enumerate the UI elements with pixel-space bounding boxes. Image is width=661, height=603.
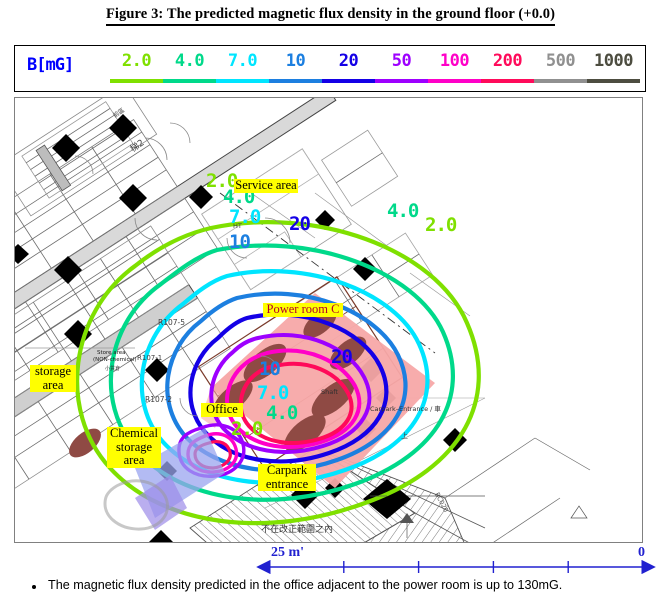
contour-label-4-0-10: 4.0: [266, 402, 297, 424]
legend-entry-swatch: [269, 79, 322, 83]
legend-entry-swatch: [216, 79, 269, 83]
figure-title: Figure 3: The predicted magnetic flux de…: [0, 6, 661, 26]
legend-entry-2-0: 2.0: [110, 46, 163, 93]
cad-annotation-5: (NON-chemical): [93, 357, 137, 363]
room-label-carpark-entrance: Carpark entrance: [258, 464, 316, 491]
floor-plan-canvas: Service area Power room C storage area C…: [15, 98, 642, 542]
contour-label-2-0-11: 2.0: [231, 418, 262, 440]
contour-label-4-0-5: 4.0: [387, 200, 418, 222]
cad-annotation-12: 上: [401, 431, 408, 441]
legend-entry-swatch: [322, 79, 375, 83]
contour-label-2-0-6: 2.0: [425, 214, 456, 236]
footnote: The magnetic flux density predicted in t…: [0, 578, 661, 600]
legend-entry-500: 500: [534, 46, 587, 93]
legend-entry-10: 10: [269, 46, 322, 93]
cad-annotation-4: Store area: [97, 350, 126, 356]
legend-entry-label: 2.0: [110, 51, 163, 71]
legend-entry-label: 500: [534, 51, 587, 71]
room-label-storage-area: storage area: [30, 365, 76, 392]
legend-entry-swatch: [534, 79, 587, 83]
room-label-office: Office: [201, 403, 243, 417]
contour-label-20-4: 20: [289, 213, 310, 235]
room-label-service-area: Service area: [234, 179, 298, 193]
legend-entry-label: 1000: [587, 51, 640, 71]
cad-annotation-8: 小貨倉: [105, 365, 120, 372]
legend-entry-swatch: [163, 79, 216, 83]
legend-entry-label: 7.0: [216, 51, 269, 71]
contour-label-10-7: 10: [259, 358, 280, 380]
legend-entry-swatch: [587, 79, 640, 83]
floor-plan-frame: Service area Power room C storage area C…: [14, 97, 643, 543]
footnote-text: The magnetic flux density predicted in t…: [48, 578, 562, 592]
cad-annotation-3: R107-5: [158, 318, 185, 327]
cad-annotation-10: 不在改正範圍之內: [261, 522, 333, 535]
legend-entry-label: 10: [269, 51, 322, 71]
bullet-dot-icon: [32, 585, 36, 589]
legend-unit-label: B[mG]: [27, 55, 73, 75]
legend-entry-label: 50: [375, 51, 428, 71]
figure-title-text: Figure 3: The predicted magnetic flux de…: [106, 6, 555, 26]
legend-entry-100: 100: [428, 46, 481, 93]
figure-root: Figure 3: The predicted magnetic flux de…: [0, 0, 661, 603]
legend-entry-swatch: [481, 79, 534, 83]
cad-annotation-9: Carpark–Entrance / 車: [370, 403, 441, 413]
legend-entry-1000: 1000: [587, 46, 640, 93]
contour-label-7-0-2: 7.0: [229, 206, 260, 228]
floor-plan-drawing: [15, 98, 642, 542]
legend-entry-swatch: [428, 79, 481, 83]
contour-label-20-8: 20: [331, 346, 352, 368]
scale-bar-axis: [0, 543, 661, 575]
legend-entry-swatch: [110, 79, 163, 83]
legend-entry-4-0: 4.0: [163, 46, 216, 93]
legend-entry-label: 200: [481, 51, 534, 71]
legend-entry-7-0: 7.0: [216, 46, 269, 93]
legend-entry-label: 100: [428, 51, 481, 71]
legend-entry-200: 200: [481, 46, 534, 93]
cad-annotation-7: R107-2: [145, 395, 172, 404]
legend-box: B[mG] 2.04.07.01020501002005001000: [14, 45, 646, 92]
legend-color-scale: 2.04.07.01020501002005001000: [110, 46, 640, 93]
room-label-chemical-storage-area: Chemical storage area: [107, 427, 161, 468]
scale-bar: 25 m' 0: [0, 543, 661, 575]
legend-entry-50: 50: [375, 46, 428, 93]
room-label-power-room-c: Power room C: [263, 303, 343, 317]
legend-entry-label: 4.0: [163, 51, 216, 71]
cad-annotation-6: R107-1: [137, 354, 162, 362]
legend-entry-20: 20: [322, 46, 375, 93]
legend-entry-swatch: [375, 79, 428, 83]
contour-label-10-3: 10: [229, 231, 250, 253]
legend-entry-label: 20: [322, 51, 375, 71]
cad-annotation-13: Shaft: [321, 388, 338, 396]
contour-label-7-0-9: 7.0: [257, 382, 288, 404]
